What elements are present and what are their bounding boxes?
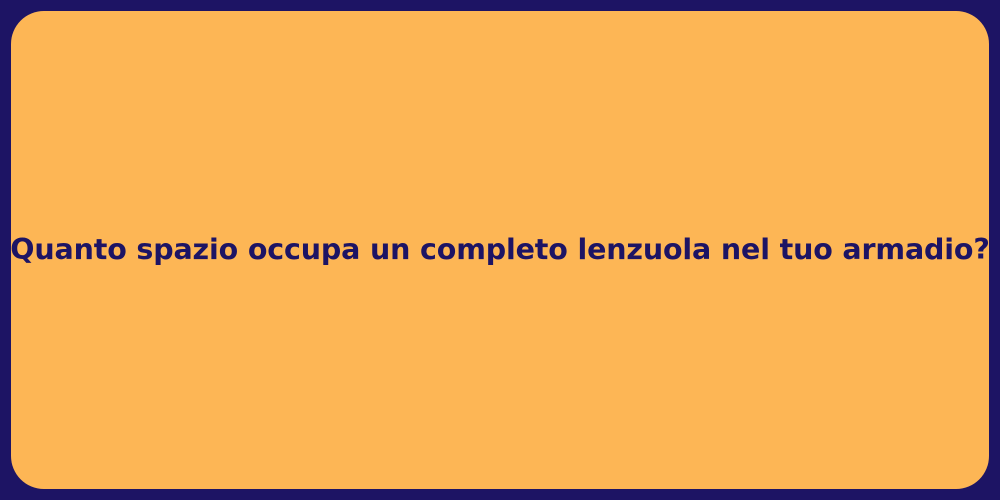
card-panel: Quanto spazio occupa un completo lenzuol… (11, 11, 989, 489)
social-card-screenshot: Quanto spazio occupa un completo lenzuol… (0, 0, 1000, 500)
card-headline: Quanto spazio occupa un completo lenzuol… (10, 231, 989, 269)
